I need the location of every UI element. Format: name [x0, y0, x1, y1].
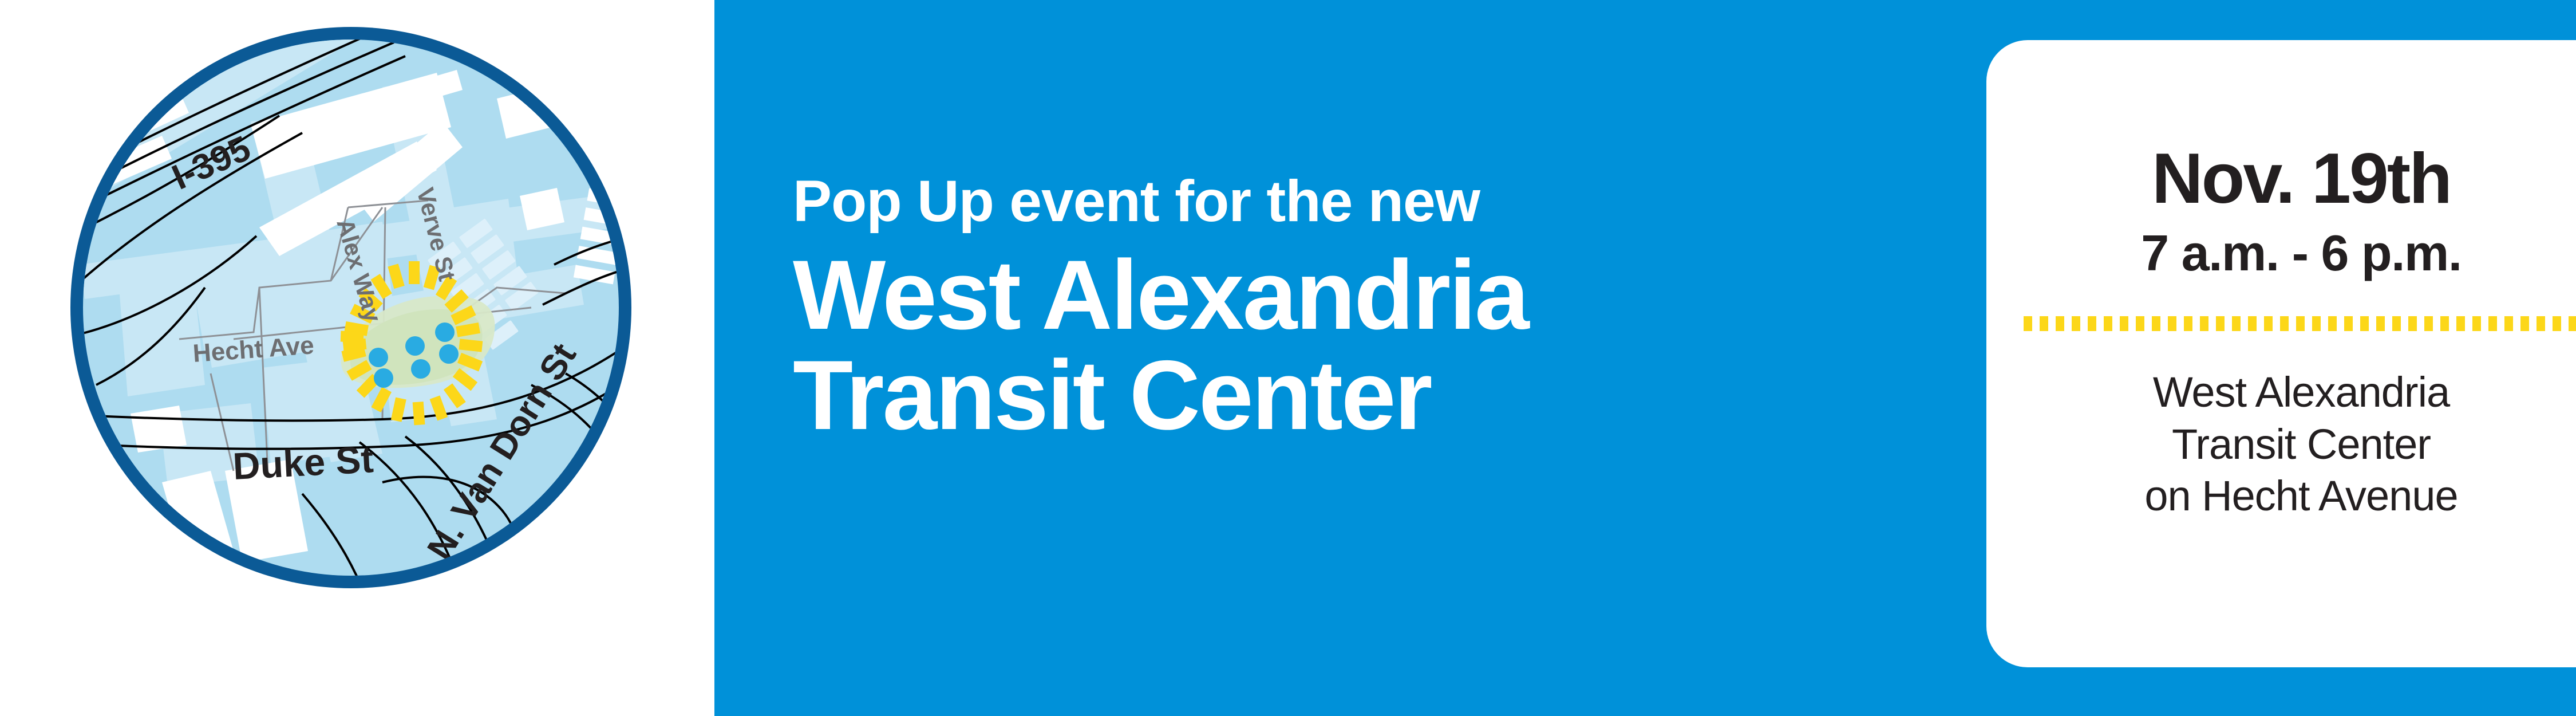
- map-label-duke-st: Duke St: [232, 438, 374, 487]
- transit-bay-marker: [405, 336, 425, 356]
- eyebrow-text: Pop Up event for the new: [793, 172, 1955, 230]
- headline-line-2: Transit Center: [793, 345, 1955, 446]
- headline-block: Pop Up event for the new West Alexandria…: [793, 172, 1955, 446]
- event-date: Nov. 19th: [2018, 143, 2576, 214]
- event-banner: I-395 Alex Way Verve St Hecht Ave Duke S…: [0, 0, 2576, 716]
- event-time: 7 a.m. - 6 p.m.: [2018, 227, 2576, 280]
- map-panel: I-395 Alex Way Verve St Hecht Ave Duke S…: [0, 0, 714, 716]
- transit-bay-marker: [411, 359, 430, 379]
- transit-bay-marker: [369, 348, 388, 367]
- location-map-circle[interactable]: I-395 Alex Way Verve St Hecht Ave Duke S…: [62, 18, 640, 597]
- event-location-line-1: West Alexandria: [2018, 367, 2576, 418]
- headline-line-1: West Alexandria: [793, 245, 1955, 345]
- event-location: West Alexandria Transit Center on Hecht …: [2018, 367, 2576, 522]
- event-location-line-2: Transit Center: [2018, 419, 2576, 470]
- transit-bay-marker: [439, 344, 459, 364]
- event-location-line-3: on Hecht Avenue: [2018, 470, 2576, 522]
- transit-bay-marker: [435, 322, 455, 342]
- transit-bay-marker: [374, 368, 393, 388]
- event-info-card: Nov. 19th 7 a.m. - 6 p.m. West Alexandri…: [1986, 40, 2576, 667]
- map-graphic: I-395 Alex Way Verve St Hecht Ave Duke S…: [62, 18, 640, 597]
- dotted-divider: [2024, 316, 2576, 331]
